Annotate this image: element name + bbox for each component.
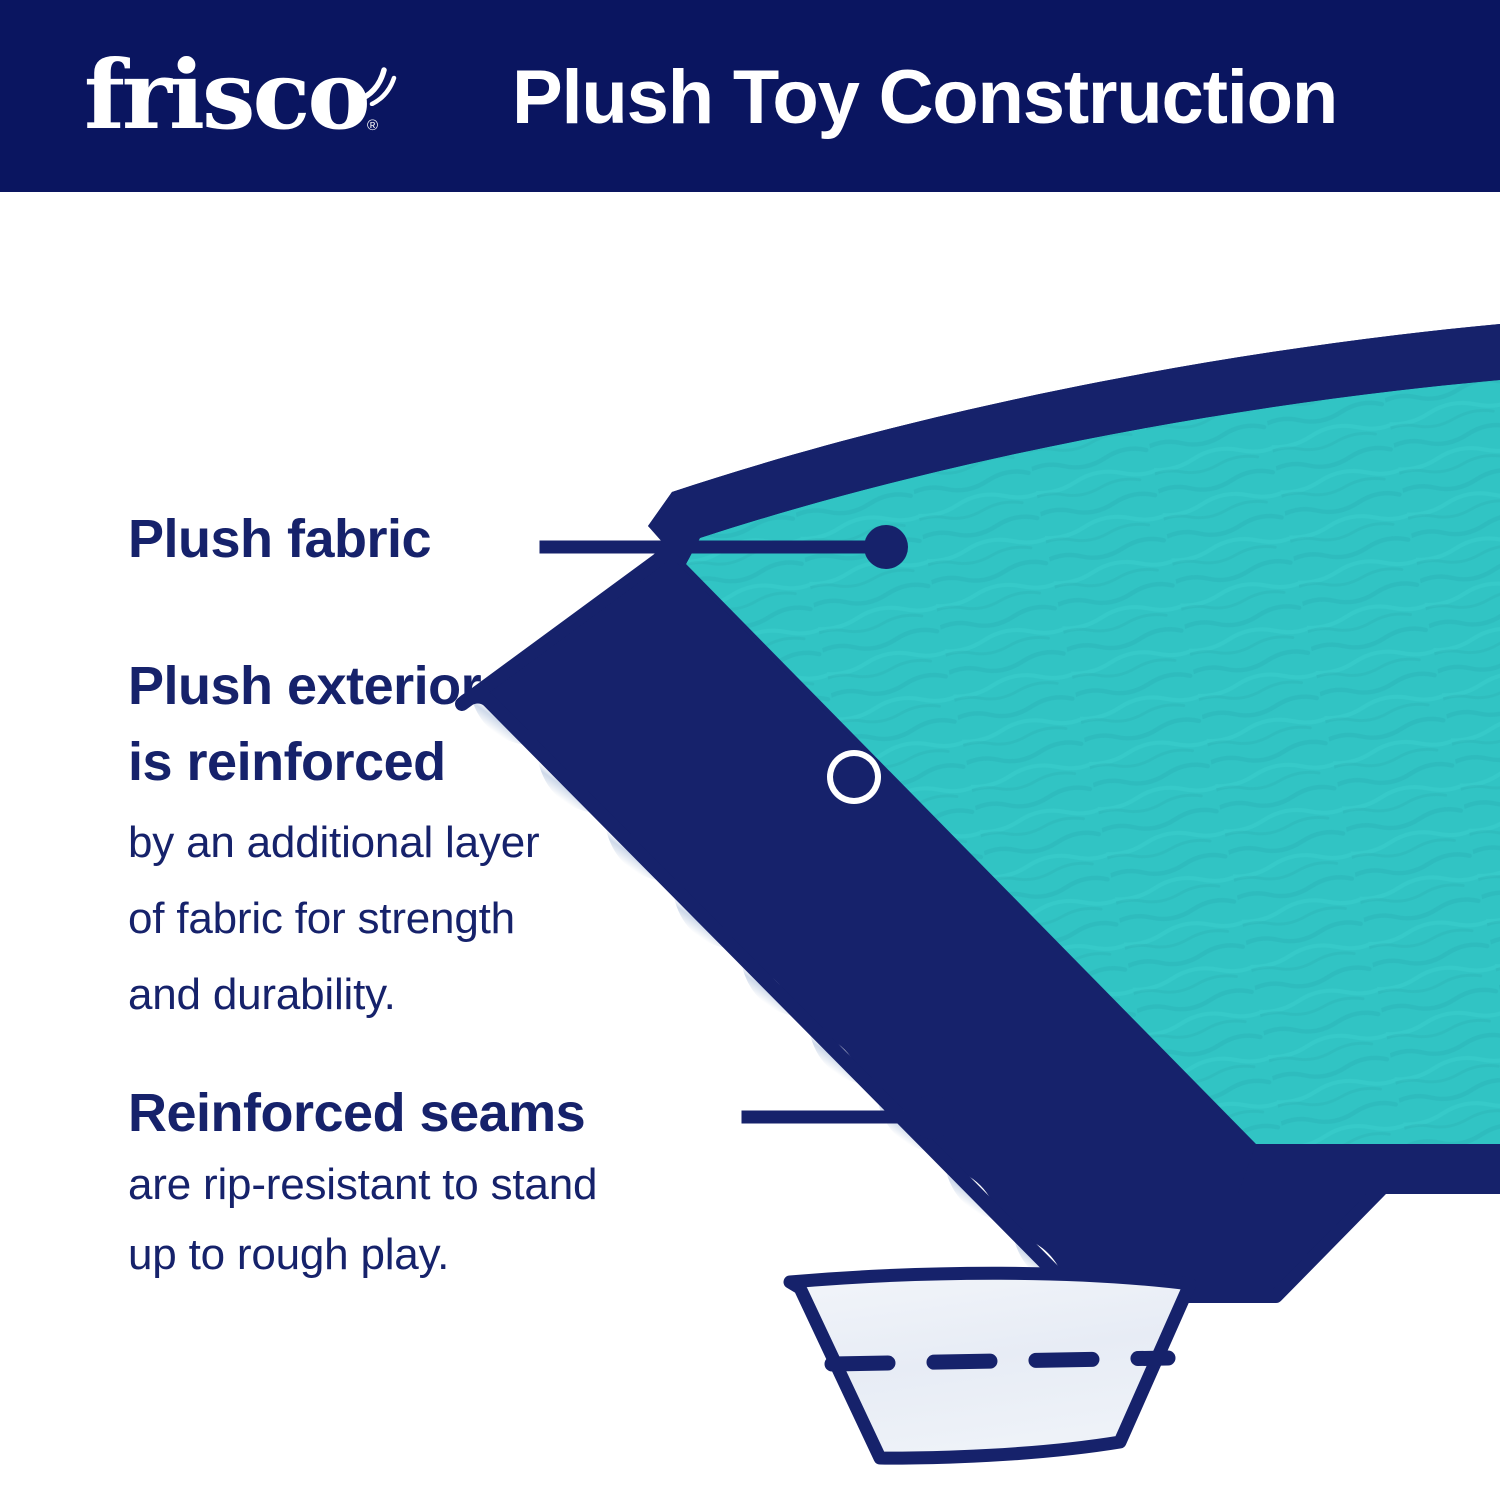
callout-plush-exterior: Plush exterior is reinforced by an addit… bbox=[128, 648, 728, 1028]
page-title: Plush Toy Construction bbox=[512, 48, 1412, 148]
callout-plush-exterior-heading-line2: is reinforced bbox=[128, 724, 728, 800]
frisco-logo: frisco ® bbox=[84, 44, 384, 148]
callout-reinforced-seams-heading: Reinforced seams bbox=[128, 1078, 808, 1148]
callout-plush-exterior-heading-line1: Plush exterior bbox=[128, 648, 728, 724]
plush-panel-bottom-edge bbox=[1238, 1144, 1500, 1194]
plush-exterior-dot bbox=[833, 756, 875, 798]
callout-plush-exterior-body-line2: of fabric for strength bbox=[128, 886, 728, 952]
reinforced-seams-dot bbox=[910, 1095, 954, 1139]
registered-trademark-icon: ® bbox=[367, 118, 378, 133]
callout-reinforced-seams: Reinforced seams are rip-resistant to st… bbox=[128, 1078, 808, 1288]
infographic-page: frisco ® Plush Toy Construction bbox=[0, 0, 1500, 1500]
callout-plush-exterior-body-line3: and durability. bbox=[128, 962, 728, 1028]
header-bar: frisco ® Plush Toy Construction bbox=[0, 0, 1500, 192]
frisco-logo-wordmark: frisco bbox=[84, 44, 368, 148]
callout-plush-fabric-heading: Plush fabric bbox=[128, 506, 568, 572]
callout-reinforced-seams-body-line2: up to rough play. bbox=[128, 1222, 808, 1288]
callout-reinforced-seams-body-line1: are rip-resistant to stand bbox=[128, 1152, 808, 1218]
seam-flap bbox=[790, 1273, 1190, 1458]
callout-plush-exterior-body-line1: by an additional layer bbox=[128, 810, 728, 876]
swoosh-icon bbox=[354, 66, 400, 106]
callout-plush-fabric: Plush fabric bbox=[128, 506, 568, 572]
plush-fabric-dot bbox=[864, 525, 908, 569]
